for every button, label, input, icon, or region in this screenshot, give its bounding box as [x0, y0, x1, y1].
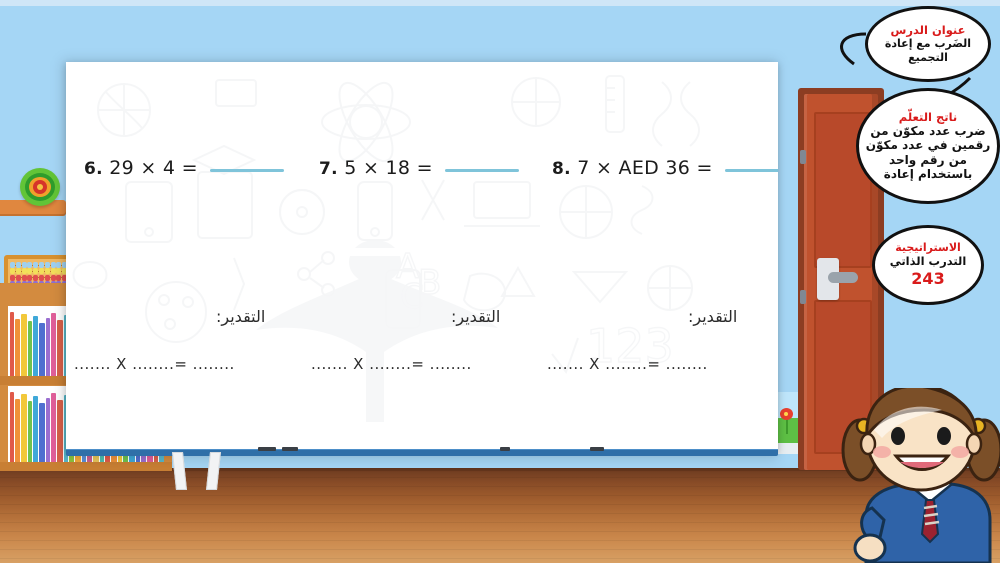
abacus-bead — [56, 268, 61, 274]
dartboard-icon — [20, 168, 60, 206]
abacus-bead — [10, 262, 15, 268]
abacus-bead — [22, 262, 27, 268]
bubble-lesson-title-body: الضَرب مع إعادة التجميع — [874, 37, 982, 63]
problem-8: 8. 7 × AED 36 = — [552, 157, 778, 179]
abacus-bead — [27, 262, 32, 268]
abacus-bead — [39, 275, 44, 281]
book-spine — [46, 318, 50, 376]
abacus-bead — [45, 275, 50, 281]
abacus-bead — [27, 268, 32, 274]
problem-8-answer-blank[interactable] — [725, 169, 778, 172]
estimate-label-2: التقدير: — [451, 307, 500, 326]
door-hinge-upper — [800, 150, 806, 164]
estimate-blank-2[interactable]: ....... X ........= ........ — [311, 355, 472, 373]
bubble-learning-outcome-heading: ناتج التعلّم — [899, 111, 957, 124]
problem-7-expression: 5 × 18 = — [344, 157, 433, 179]
abacus-bead — [27, 275, 32, 281]
abacus-bead — [39, 262, 44, 268]
bookcase-base — [0, 462, 172, 471]
book-spine — [39, 323, 45, 376]
marker-4[interactable] — [590, 447, 604, 451]
doodle-watermark: 123 A B C — [66, 62, 778, 450]
abacus-bead — [56, 275, 61, 281]
door-hinge-lower — [800, 290, 806, 304]
abacus-bead — [33, 275, 38, 281]
abacus-bead — [45, 268, 50, 274]
problem-6-number: 6. — [84, 159, 103, 179]
estimate-label-3: التقدير: — [688, 307, 737, 326]
bubble-lesson-title: عنوان الدرس الضَرب مع إعادة التجميع — [865, 6, 991, 82]
abacus-bead — [33, 262, 38, 268]
estimate-label-1: التقدير: — [216, 307, 265, 326]
abacus-bead — [45, 262, 50, 268]
marker-3[interactable] — [500, 447, 510, 451]
whiteboard[interactable]: 123 A B C 6. 29 × 4 = 7. 5 × 18 = 8. — [66, 62, 778, 450]
book-spine — [10, 312, 14, 376]
problem-6: 6. 29 × 4 = — [84, 157, 284, 179]
book-spine — [33, 396, 38, 462]
bubble-strategy-page-number: 243 — [911, 269, 944, 288]
bubble-learning-outcome: ناتج التعلّم ضرب عدد مكوّن من رقمين في ع… — [856, 88, 1000, 204]
problem-8-expression: 7 × AED 36 = — [577, 157, 713, 179]
abacus-bead — [39, 268, 44, 274]
abacus-bead — [51, 268, 56, 274]
abacus-bead — [10, 275, 15, 281]
book-spine — [46, 398, 50, 462]
book-spine — [51, 393, 56, 462]
abacus-row — [10, 268, 70, 274]
problem-7: 7. 5 × 18 = — [319, 157, 519, 179]
abacus-row — [10, 262, 70, 268]
abacus-bead — [16, 275, 21, 281]
abacus-bead — [33, 268, 38, 274]
book-spine — [28, 401, 32, 462]
book-spine — [15, 319, 20, 376]
book-spine — [15, 399, 20, 462]
book-spine — [51, 313, 56, 376]
estimate-blank-1[interactable]: ....... X ........= ........ — [74, 355, 235, 373]
problem-7-number: 7. — [319, 159, 338, 179]
bubble-lesson-title-heading: عنوان الدرس — [891, 24, 966, 37]
abacus-bead — [56, 262, 61, 268]
bubble-strategy-body: التدرب الذاتي — [890, 255, 967, 269]
girl-student-character — [838, 388, 1000, 563]
abacus-bead — [22, 275, 27, 281]
abacus-bead — [16, 262, 21, 268]
problem-8-number: 8. — [552, 159, 571, 179]
estimate-blank-3[interactable]: ....... X ........= ........ — [547, 355, 708, 373]
abacus-bead — [10, 268, 15, 274]
marker-2[interactable] — [282, 447, 298, 451]
book-spine — [21, 314, 27, 376]
bubble-learning-outcome-body: ضرب عدد مكوّن من رقمين في عدد مكوّن من ر… — [865, 124, 991, 182]
abacus-bead — [51, 262, 56, 268]
book-spine — [10, 392, 14, 462]
marker-1[interactable] — [258, 447, 276, 451]
abacus-bead — [16, 268, 21, 274]
problem-6-answer-blank[interactable] — [210, 169, 284, 172]
abacus-bead — [51, 275, 56, 281]
bubble-strategy: الاستراتيجية التدرب الذاتي 243 — [872, 225, 984, 305]
problem-6-expression: 29 × 4 = — [109, 157, 198, 179]
book-spine — [21, 394, 27, 462]
abacus-row — [10, 275, 70, 281]
abacus-bead — [22, 268, 27, 274]
problem-7-answer-blank[interactable] — [445, 169, 519, 172]
book-spine — [39, 403, 45, 462]
classroom-scene: 123 A B C 6. 29 × 4 = 7. 5 × 18 = 8. — [0, 0, 1000, 563]
flower-right-icon — [778, 408, 796, 434]
book-spine — [28, 321, 32, 376]
book-spine — [33, 316, 38, 376]
